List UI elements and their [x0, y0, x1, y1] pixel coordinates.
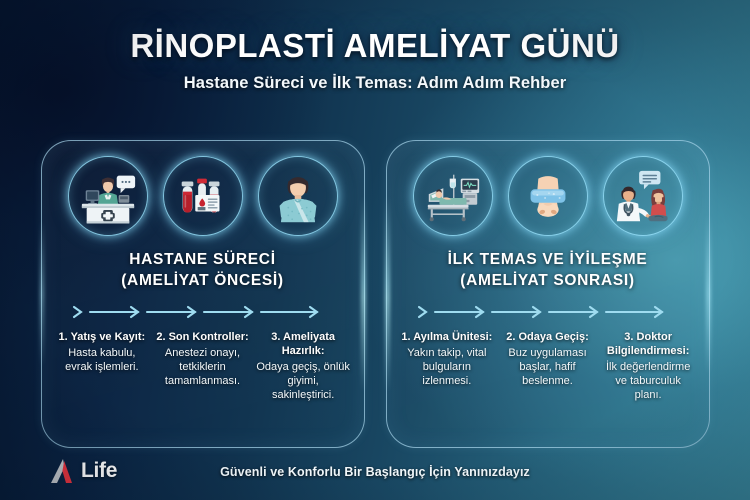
nose-ice-pack-icon — [504, 152, 592, 240]
panel-heading-line1: HASTANE SÜRECİ — [42, 250, 364, 271]
panels-container: HASTANE SÜRECİ (AMELİYAT ÖNCESİ) 1. Ya — [0, 140, 750, 450]
panel-heading-line1: İLK TEMAS VE İYİLEŞME — [387, 250, 709, 271]
panel-ilk-temas: İLK TEMAS VE İYİLEŞME (AMELİYAT SONRASI) — [386, 140, 710, 448]
page-subtitle: Hastane Süreci ve İlk Temas: Adım Adım R… — [0, 74, 750, 93]
panel-hastane-sureci: HASTANE SÜRECİ (AMELİYAT ÖNCESİ) 1. Ya — [41, 140, 365, 448]
reception-desk-nurse-icon — [64, 152, 152, 240]
step-item: 1. Ayılma Ünitesi: Yakın takip, vital bu… — [400, 331, 495, 402]
step-title: 1. Yatış ve Kayıt: — [55, 331, 150, 345]
step-title: 3. Ameliyata Hazırlık: — [256, 331, 351, 359]
step-item: 3. Ameliyata Hazırlık: Odaya geçiş, önlü… — [256, 331, 351, 402]
blood-test-tubes-icon — [159, 152, 247, 240]
step-desc: Yakın takip, vital bulguların izlenmesi. — [400, 346, 495, 388]
footer-tagline: Güvenli ve Konforlu Bir Başlangıç İçin Y… — [0, 465, 750, 479]
step-desc: Odaya geçiş, önlük giyimi, sakinleştiric… — [256, 360, 351, 402]
step-desc: Hasta kabulu, evrak işlemleri. — [55, 346, 150, 374]
panel-heading-right: İLK TEMAS VE İYİLEŞME (AMELİYAT SONRASI) — [387, 250, 709, 291]
icon-row-right — [387, 141, 709, 240]
doctor-consultation-icon — [599, 152, 687, 240]
arrow-chain-right — [387, 302, 709, 322]
hospital-bed-monitor-icon — [409, 152, 497, 240]
steps-left: 1. Yatış ve Kayıt: Hasta kabulu, evrak i… — [42, 331, 364, 402]
panel-edge-glow-secondary — [41, 221, 43, 368]
panel-heading-line2: (AMELİYAT ÖNCESİ) — [42, 271, 364, 292]
steps-right: 1. Ayılma Ünitesi: Yakın takip, vital bu… — [387, 331, 709, 402]
icon-row-left — [42, 141, 364, 240]
step-title: 2. Odaya Geçiş: — [500, 331, 595, 345]
page-title: RİNOPLASTİ AMELİYAT GÜNÜ — [0, 27, 750, 65]
step-desc: Buz uygulaması başlar, hafif beslenme. — [500, 346, 595, 388]
panel-edge-glow-secondary — [707, 214, 709, 373]
step-item: 1. Yatış ve Kayıt: Hasta kabulu, evrak i… — [55, 331, 150, 402]
panel-heading-left: HASTANE SÜRECİ (AMELİYAT ÖNCESİ) — [42, 250, 364, 291]
step-desc: Anestezi onayı, tetkiklerin tamamlanması… — [155, 346, 250, 388]
arrow-chain-left — [42, 302, 364, 322]
footer: Life Güvenli ve Konforlu Bir Başlangıç İ… — [0, 448, 750, 500]
step-title: 3. Doktor Bilgilendirmesi: — [601, 331, 696, 359]
step-item: 2. Son Kontroller: Anestezi onayı, tetki… — [155, 331, 250, 402]
step-item: 3. Doktor Bilgilendirmesi: İlk değerlend… — [601, 331, 696, 402]
step-item: 2. Odaya Geçiş: Buz uygulaması başlar, h… — [500, 331, 595, 402]
panel-heading-line2: (AMELİYAT SONRASI) — [387, 271, 709, 292]
header: RİNOPLASTİ AMELİYAT GÜNÜ Hastane Süreci … — [0, 0, 750, 93]
step-title: 2. Son Kontroller: — [155, 331, 250, 345]
patient-in-gown-icon — [254, 152, 342, 240]
infographic-canvas: RİNOPLASTİ AMELİYAT GÜNÜ Hastane Süreci … — [0, 0, 750, 500]
step-desc: İlk değerlendirme ve taburculuk planı. — [601, 360, 696, 402]
step-title: 1. Ayılma Ünitesi: — [400, 331, 495, 345]
